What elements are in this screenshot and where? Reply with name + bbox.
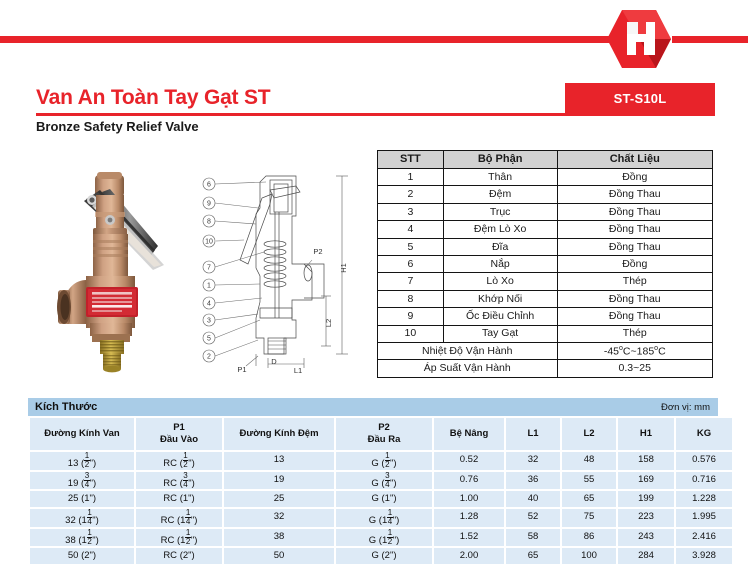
frac-0-p1: 12 <box>183 452 188 469</box>
svg-text:1: 1 <box>207 283 211 290</box>
material-part: Nắp <box>443 255 557 272</box>
dim-l1: 40 <box>506 491 560 507</box>
v1: 19 <box>68 478 79 489</box>
dim-l2: 75 <box>562 509 616 527</box>
table-row: 10 Tay Gạt Thép <box>378 325 713 342</box>
page-title: Van An Toàn Tay Gạt ST <box>36 86 270 110</box>
dim-l1: 32 <box>506 452 560 470</box>
material-value: Đồng Thau <box>557 221 713 238</box>
frac-3-p1: 14 <box>185 509 190 526</box>
frac-0-p2: 12 <box>385 452 390 469</box>
dim-kg: 1.995 <box>676 509 732 527</box>
title-underline <box>36 113 715 116</box>
dim-col-l1: L1 <box>506 418 560 450</box>
frac-3-van: 14 <box>87 509 92 526</box>
materials-col-part: Bộ Phận <box>443 151 557 169</box>
p22: G <box>371 493 378 504</box>
dim-valve-diameter: 25 (1") <box>30 491 134 507</box>
material-index: 5 <box>378 238 444 255</box>
dim-p2: G (112") <box>336 529 432 547</box>
material-index: 10 <box>378 325 444 342</box>
table-row: 8 Khớp Nối Đồng Thau <box>378 290 713 307</box>
dim-lift: 1.52 <box>434 529 504 547</box>
dim-col-2-l1: Đường Kính Đệm <box>224 428 334 440</box>
material-value: Đồng Thau <box>557 290 713 307</box>
svg-text:P1: P1 <box>237 365 246 374</box>
dim-p2: G (1") <box>336 491 432 507</box>
dim-l2: 100 <box>562 548 616 564</box>
operating-pressure-row: Áp Suất Vận Hành 0.3~25 <box>378 360 713 377</box>
svg-text:2: 2 <box>207 354 211 361</box>
material-part: Ốc Điều Chỉnh <box>443 308 557 325</box>
frac-3-p2: 14 <box>387 509 392 526</box>
material-part: Đệm Lò Xo <box>443 221 557 238</box>
p25p: (2") <box>382 550 397 561</box>
model-code-badge: ST-S10L <box>565 83 715 113</box>
table-row: 4 Đệm Lò Xo Đồng Thau <box>378 221 713 238</box>
product-photo <box>40 168 202 380</box>
v5p: (2") <box>81 550 96 561</box>
materials-table: STT Bộ Phận Chất Liệu 1 Thân Đồng 2 Đệm … <box>377 150 713 378</box>
material-value: Đồng Thau <box>557 186 713 203</box>
svg-text:4: 4 <box>207 301 211 308</box>
dim-p2: G (2") <box>336 548 432 564</box>
dim-p1: RC (12") <box>136 452 222 470</box>
frac-4-van: 12 <box>87 529 92 546</box>
material-value: Thép <box>557 325 713 342</box>
dim-seat-diameter: 19 <box>224 472 334 490</box>
dim-valve-diameter: 19 (34") <box>30 472 134 490</box>
dim-col-kg: KG <box>676 418 732 450</box>
v5: 50 <box>68 550 79 561</box>
p15: RC <box>163 550 177 561</box>
frac-4-p1: 12 <box>185 529 190 546</box>
dim-l2: 86 <box>562 529 616 547</box>
p10: RC <box>163 458 177 469</box>
dim-lift: 1.00 <box>434 491 504 507</box>
material-value: Đồng <box>557 169 713 186</box>
table-row: 9 Ốc Điều Chỉnh Đồng Thau <box>378 308 713 325</box>
operating-temperature-value: -45oC~185oC <box>557 342 713 359</box>
dim-l1: 36 <box>506 472 560 490</box>
dim-p1: RC (112") <box>136 529 222 547</box>
material-part: Đệm <box>443 186 557 203</box>
material-index: 9 <box>378 308 444 325</box>
v4: 38 <box>65 535 76 546</box>
p21: G <box>371 478 378 489</box>
material-part: Tay Gạt <box>443 325 557 342</box>
dim-p1: RC (1") <box>136 491 222 507</box>
frac-1-p2: 34 <box>385 472 390 489</box>
svg-text:P2: P2 <box>313 247 322 256</box>
material-value: Đồng <box>557 255 713 272</box>
dim-lift: 0.52 <box>434 452 504 470</box>
dim-h1: 199 <box>618 491 674 507</box>
table-row: 6 Nắp Đồng <box>378 255 713 272</box>
material-part: Thân <box>443 169 557 186</box>
temp-mid: C~185 <box>623 346 654 358</box>
svg-text:3: 3 <box>207 318 211 325</box>
dim-h1: 284 <box>618 548 674 564</box>
dim-col-0-l1: Đường Kính Van <box>30 428 134 440</box>
svg-text:5: 5 <box>207 336 211 343</box>
svg-text:9: 9 <box>207 201 211 208</box>
materials-table-header-row: STT Bộ Phận Chất Liệu <box>378 151 713 169</box>
header-rule-right <box>672 36 748 43</box>
p24: G <box>369 535 376 546</box>
material-value: Đồng Thau <box>557 238 713 255</box>
table-row: 13 (12") RC (12") 13 G (12") 0.52 32 48 … <box>30 452 732 470</box>
p25: G <box>371 550 378 561</box>
p13: RC <box>161 515 175 526</box>
material-part: Đĩa <box>443 238 557 255</box>
dim-kg: 0.576 <box>676 452 732 470</box>
dim-h1: 158 <box>618 452 674 470</box>
dim-col-1-l2: Đầu Vào <box>136 434 222 446</box>
svg-text:6: 6 <box>207 182 211 189</box>
dim-p1: RC (114") <box>136 509 222 527</box>
material-value: Đồng Thau <box>557 203 713 220</box>
dim-l1: 65 <box>506 548 560 564</box>
dim-lift: 0.76 <box>434 472 504 490</box>
hexagon-h-logo <box>605 8 673 70</box>
dim-col-l2: L2 <box>562 418 616 450</box>
dim-seat-diameter: 13 <box>224 452 334 470</box>
svg-text:L2: L2 <box>324 319 333 327</box>
dim-kg: 2.416 <box>676 529 732 547</box>
dim-l2: 65 <box>562 491 616 507</box>
v0: 13 <box>68 458 79 469</box>
dim-seat-diameter: 25 <box>224 491 334 507</box>
v2: 25 <box>68 493 79 504</box>
p20: G <box>371 458 378 469</box>
dimensions-section: Kích Thước Đơn vị: mm Đường Kính Van P1 … <box>28 398 718 566</box>
material-value: Thép <box>557 273 713 290</box>
dim-col-lift: Bệ Nâng <box>434 418 504 450</box>
dim-l1: 58 <box>506 529 560 547</box>
table-row: 1 Thân Đồng <box>378 169 713 186</box>
dim-h1: 223 <box>618 509 674 527</box>
dim-kg: 1.228 <box>676 491 732 507</box>
dim-col-p1-inlet: P1 Đầu Vào <box>136 418 222 450</box>
svg-text:7: 7 <box>207 265 211 272</box>
table-row: 5 Đĩa Đồng Thau <box>378 238 713 255</box>
frac-4-p2: 12 <box>387 529 392 546</box>
table-row: 2 Đệm Đồng Thau <box>378 186 713 203</box>
dim-col-p2-outlet: P2 Đầu Ra <box>336 418 432 450</box>
dim-p1: RC (2") <box>136 548 222 564</box>
dim-lift: 1.28 <box>434 509 504 527</box>
material-index: 8 <box>378 290 444 307</box>
dim-valve-diameter: 50 (2") <box>30 548 134 564</box>
technical-drawing: 69 810 71 43 52 H1 L2 L1 D P1 P2 <box>200 168 358 380</box>
dim-lift: 2.00 <box>434 548 504 564</box>
dimensions-header-row: Đường Kính Van P1 Đầu Vào Đường Kính Đệm… <box>30 418 732 450</box>
table-row: 32 (114") RC (114") 32 G (114") 1.28 52 … <box>30 509 732 527</box>
dim-seat-diameter: 38 <box>224 529 334 547</box>
material-index: 4 <box>378 221 444 238</box>
materials-col-material: Chất Liệu <box>557 151 713 169</box>
dimensions-unit: Đơn vị: mm <box>661 402 710 413</box>
table-row: 19 (34") RC (34") 19 G (34") 0.76 36 55 … <box>30 472 732 490</box>
p12p: (1") <box>180 493 195 504</box>
dim-kg: 0.716 <box>676 472 732 490</box>
svg-text:10: 10 <box>205 239 213 246</box>
dim-valve-diameter: 38 (112") <box>30 529 134 547</box>
dim-seat-diameter: 50 <box>224 548 334 564</box>
dim-col-valve-diameter: Đường Kính Van <box>30 418 134 450</box>
p23: G <box>369 515 376 526</box>
svg-text:H1: H1 <box>339 263 348 273</box>
dim-l2: 48 <box>562 452 616 470</box>
dim-col-1-l1: P1 <box>136 422 222 434</box>
dim-h1: 169 <box>618 472 674 490</box>
p11: RC <box>163 478 177 489</box>
dim-l1: 52 <box>506 509 560 527</box>
material-part: Trục <box>443 203 557 220</box>
frac-1-van: 34 <box>84 472 89 489</box>
v3: 32 <box>65 515 76 526</box>
dim-h1: 243 <box>618 529 674 547</box>
dim-col-3-l2: Đầu Ra <box>336 434 432 446</box>
table-row: 38 (112") RC (112") 38 G (112") 1.52 58 … <box>30 529 732 547</box>
dim-p2: G (12") <box>336 452 432 470</box>
material-index: 3 <box>378 203 444 220</box>
material-value: Đồng Thau <box>557 308 713 325</box>
svg-text:L1: L1 <box>294 366 302 375</box>
dimensions-title: Kích Thước <box>35 401 97 413</box>
operating-pressure-value: 0.3~25 <box>557 360 713 377</box>
table-row: 3 Trục Đồng Thau <box>378 203 713 220</box>
p12: RC <box>163 493 177 504</box>
dim-col-h1: H1 <box>618 418 674 450</box>
dim-seat-diameter: 32 <box>224 509 334 527</box>
material-part: Lò Xo <box>443 273 557 290</box>
dim-valve-diameter: 32 (114") <box>30 509 134 527</box>
dim-kg: 3.928 <box>676 548 732 564</box>
dim-p2: G (34") <box>336 472 432 490</box>
material-index: 2 <box>378 186 444 203</box>
p14: RC <box>161 535 175 546</box>
dim-valve-diameter: 13 (12") <box>30 452 134 470</box>
header-rule-left <box>0 36 612 43</box>
materials-col-stt: STT <box>378 151 444 169</box>
dim-l2: 55 <box>562 472 616 490</box>
temp-unit: C <box>658 346 666 358</box>
svg-text:8: 8 <box>207 219 211 226</box>
material-index: 6 <box>378 255 444 272</box>
operating-temperature-row: Nhiệt Độ Vận Hành -45oC~185oC <box>378 342 713 359</box>
material-part: Khớp Nối <box>443 290 557 307</box>
frac-0-van: 12 <box>84 452 89 469</box>
operating-pressure-label: Áp Suất Vận Hành <box>378 360 558 377</box>
dimensions-table: Đường Kính Van P1 Đầu Vào Đường Kính Đệm… <box>28 416 734 566</box>
p22p: (1") <box>382 493 397 504</box>
page-subtitle: Bronze Safety Relief Valve <box>36 119 199 134</box>
table-row: 7 Lò Xo Thép <box>378 273 713 290</box>
material-index: 7 <box>378 273 444 290</box>
frac-1-p1: 34 <box>183 472 188 489</box>
dim-p2: G (114") <box>336 509 432 527</box>
dim-p1: RC (34") <box>136 472 222 490</box>
temp-min: -45 <box>604 346 619 358</box>
operating-temperature-label: Nhiệt Độ Vận Hành <box>378 342 558 359</box>
table-row: 25 (1") RC (1") 25 G (1") 1.00 40 65 199… <box>30 491 732 507</box>
material-index: 1 <box>378 169 444 186</box>
dim-col-seat-diameter: Đường Kính Đệm <box>224 418 334 450</box>
dimensions-band: Kích Thước Đơn vị: mm <box>28 398 718 416</box>
title-block: Van An Toàn Tay Gạt ST ST-S10L Bronze Sa… <box>36 86 715 138</box>
p15p: (2") <box>180 550 195 561</box>
dim-col-3-l1: P2 <box>336 422 432 434</box>
v2p: (1") <box>81 493 96 504</box>
table-row: 50 (2") RC (2") 50 G (2") 2.00 65 100 28… <box>30 548 732 564</box>
svg-text:D: D <box>271 357 277 366</box>
